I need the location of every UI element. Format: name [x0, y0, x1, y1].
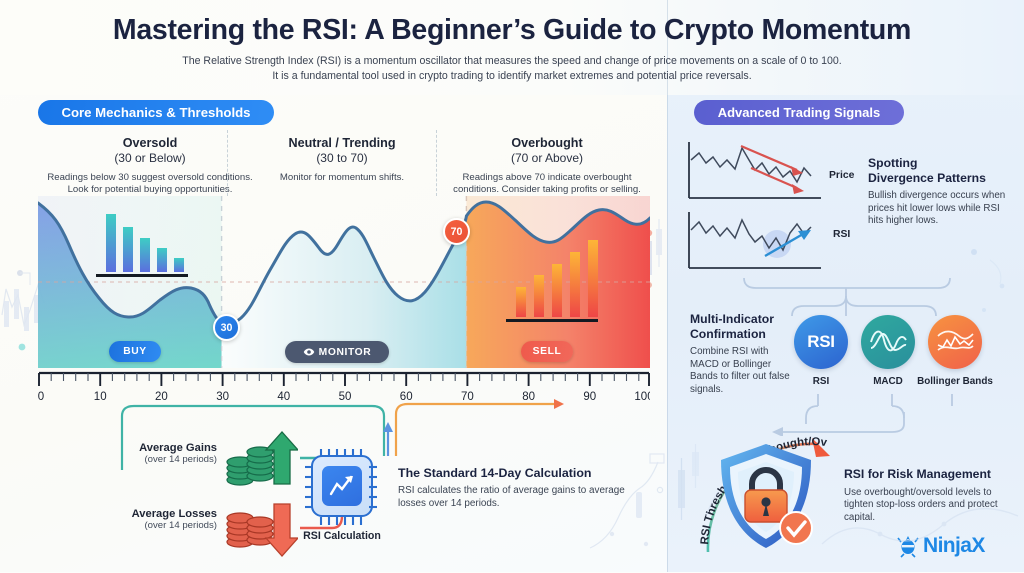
decorative-chart-bottom-right — [588, 452, 668, 558]
indicator-circle-macd[interactable] — [861, 315, 915, 369]
average-gains-title: Average Gains — [92, 442, 217, 454]
zone-heading-neutral: Neutral / Trending (30 to 70) Monitor fo… — [252, 136, 432, 184]
threshold-marker-70[interactable]: 70 — [443, 218, 470, 245]
divergence-rsi-label: RSI — [833, 229, 850, 240]
zone-name-overbought: Overbought — [443, 136, 651, 151]
threshold-marker-30[interactable]: 30 — [213, 314, 240, 341]
indicator-circle-bollinger[interactable] — [928, 315, 982, 369]
multi-indicator-text-block: Multi-Indicator Confirmation Combine RSI… — [690, 312, 796, 396]
lock-shield-icon — [714, 440, 818, 552]
divergence-body: Bullish divergence occurs when prices hi… — [868, 190, 1014, 228]
divergence-charts — [685, 138, 863, 274]
zone-name-oversold: Oversold — [44, 136, 256, 151]
zone-heading-oversold: Oversold (30 or Below) Readings below 30… — [44, 136, 256, 197]
chart-badge-buy[interactable]: BUY — [109, 341, 161, 362]
decorative-dots-right-top — [960, 240, 1020, 320]
svg-text:0: 0 — [38, 391, 44, 403]
label-average-losses: Average Losses (over 14 periods) — [92, 508, 217, 531]
subtitle-line-2: It is a fundamental tool used in crypto … — [0, 69, 1024, 84]
subtitle-line-1: The Relative Strength Index (RSI) is a m… — [0, 54, 1024, 69]
eye-icon — [303, 346, 315, 358]
zone-desc-overbought: Readings above 70 indicate overbought co… — [443, 172, 651, 197]
zone-range-oversold: (30 or Below) — [44, 151, 256, 166]
section-pill-advanced-signals[interactable]: Advanced Trading Signals — [694, 100, 904, 125]
svg-text:10: 10 — [94, 391, 107, 403]
decorative-wave-right-bottom — [820, 494, 1020, 564]
zone-divider-70 — [436, 130, 437, 196]
svg-text:90: 90 — [583, 391, 596, 403]
decorative-candles-right-low — [672, 440, 720, 536]
average-gains-sub: (over 14 periods) — [92, 454, 217, 465]
zone-range-overbought: (70 or Above) — [443, 151, 651, 166]
divergence-text-block: Spotting Divergence Patterns Bullish div… — [868, 156, 1014, 228]
divergence-heading: Spotting Divergence Patterns — [868, 156, 1014, 185]
infographic-root: Mastering the RSI: A Beginner’s Guide to… — [0, 0, 1024, 572]
gains-coins-up-arrow-icon — [222, 428, 298, 490]
chart-badge-monitor[interactable]: MONITOR — [285, 341, 389, 363]
rsi-calculation-label: RSI Calculation — [288, 530, 396, 542]
divergence-price-label: Price — [829, 170, 854, 181]
average-losses-sub: (over 14 periods) — [92, 520, 217, 531]
zone-heading-overbought: Overbought (70 or Above) Readings above … — [443, 136, 651, 197]
rsi-divergence-chart — [689, 212, 821, 268]
price-chart — [689, 142, 821, 198]
label-average-gains: Average Gains (over 14 periods) — [92, 442, 217, 465]
chip-pins — [305, 447, 379, 527]
zone-desc-neutral: Monitor for momentum shifts. — [252, 172, 432, 184]
indicator-label-bollinger: Bollinger Bands — [903, 376, 1007, 387]
zone-desc-oversold: Readings below 30 suggest oversold condi… — [44, 172, 256, 197]
zone-range-neutral: (30 to 70) — [252, 151, 432, 166]
losses-coins-down-arrow-icon — [222, 496, 298, 558]
svg-text:100: 100 — [634, 391, 650, 403]
indicator-label-rsi: RSI — [791, 376, 851, 387]
multi-indicator-body: Combine RSI with MACD or Bollinger Bands… — [690, 346, 796, 396]
bollinger-bands-icon — [935, 326, 975, 358]
page-subtitle: The Relative Strength Index (RSI) is a m… — [0, 54, 1024, 83]
indicator-circle-rsi[interactable]: RSI — [794, 315, 848, 369]
macd-wave-icon — [868, 326, 908, 358]
chart-badge-sell[interactable]: SELL — [521, 341, 573, 362]
zone-name-neutral: Neutral / Trending — [252, 136, 432, 151]
zone-divider-30 — [227, 130, 228, 196]
section-pill-core-mechanics[interactable]: Core Mechanics & Thresholds — [38, 100, 274, 125]
average-losses-title: Average Losses — [92, 508, 217, 520]
page-title: Mastering the RSI: A Beginner’s Guide to… — [0, 14, 1024, 47]
chart-badge-monitor-label: MONITOR — [319, 347, 372, 358]
multi-indicator-heading: Multi-Indicator Confirmation — [690, 312, 796, 341]
risk-management-heading: RSI for Risk Management — [844, 467, 1016, 482]
